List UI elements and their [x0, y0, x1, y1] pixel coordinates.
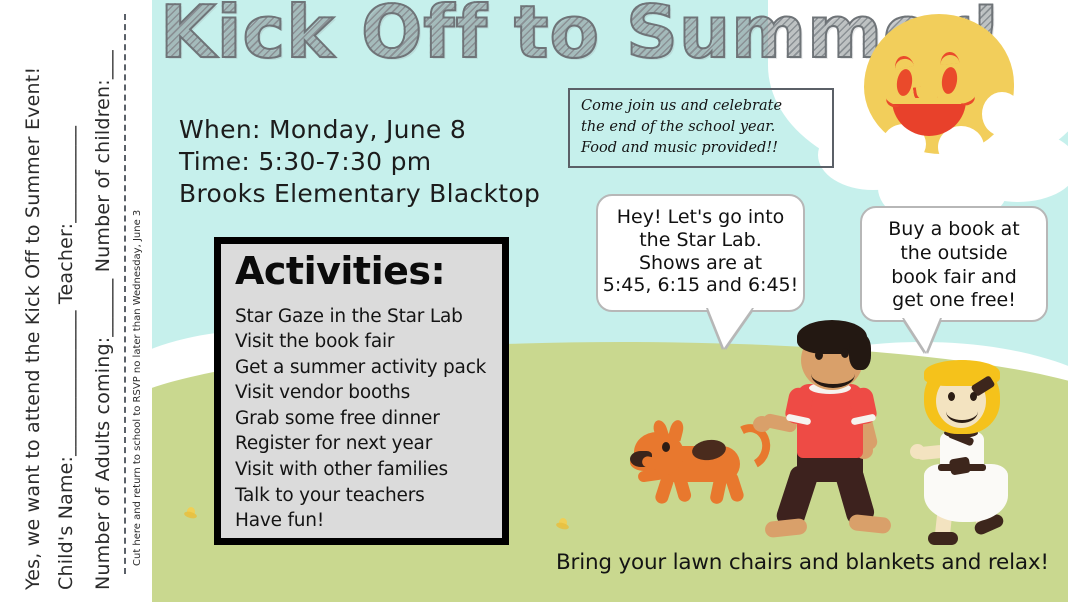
- sun-mouth-top: [892, 98, 966, 104]
- girl-sash-bow: [949, 456, 971, 475]
- boy-shoe: [764, 518, 807, 538]
- footer-text: Bring your lawn chairs and blankets and …: [556, 550, 1049, 575]
- list-item: Grab some free dinner: [235, 406, 502, 432]
- flower-icon: [184, 505, 198, 519]
- list-item: Have fun!: [235, 508, 502, 534]
- girl-shoe: [928, 532, 958, 545]
- event-when: When: Monday, June 8: [179, 114, 540, 146]
- list-item: Star Gaze in the Star Lab: [235, 304, 502, 330]
- list-item: Visit with other families: [235, 457, 502, 483]
- flyer-canvas: Yes, we want to attend the Kick Off to S…: [0, 0, 1068, 602]
- rsvp-stub: Yes, we want to attend the Kick Off to S…: [0, 0, 152, 602]
- event-place: Brooks Elementary Blacktop: [179, 178, 540, 210]
- activities-heading: Activities:: [235, 252, 502, 292]
- bubble-line-4: 5:45, 6:15 and 6:45!: [598, 274, 803, 297]
- rsvp-cut-instruction: Cut here and return to school to RSVP no…: [132, 210, 143, 566]
- list-item: Visit the book fair: [235, 329, 502, 355]
- bubble-line-3: book fair and: [862, 266, 1046, 290]
- invitation-line-1: Come join us and celebrate: [581, 96, 823, 117]
- event-details: When: Monday, June 8 Time: 5:30-7:30 pm …: [179, 114, 540, 210]
- bubble-line-3: Shows are at: [598, 252, 803, 275]
- dog-icon: [630, 418, 770, 510]
- sun-notch: [982, 92, 1022, 136]
- activities-list: Star Gaze in the Star Lab Visit the book…: [235, 304, 502, 534]
- sun-icon: [864, 14, 1034, 174]
- bubble-line-4: get one free!: [862, 289, 1046, 313]
- dog-leg: [724, 471, 746, 504]
- dog-eye: [662, 442, 670, 452]
- rsvp-headline: Yes, we want to attend the Kick Off to S…: [22, 67, 44, 590]
- bubble-line-1: Hey! Let's go into: [598, 206, 803, 229]
- girl-smile: [946, 400, 978, 423]
- poster-area: Kick Off to Summer! When: Monday, June 8…: [152, 0, 1068, 602]
- boy-eye: [815, 350, 823, 360]
- cut-line-divider: [124, 14, 126, 574]
- girl-character-icon: [912, 360, 1032, 546]
- speech-bubble-tail: [708, 308, 752, 348]
- boy-shoe: [848, 514, 891, 534]
- speech-bubble-tail: [904, 318, 940, 352]
- speech-bubble-star-lab: Hey! Let's go into the Star Lab. Shows a…: [596, 194, 805, 312]
- rsvp-child-teacher-fields[interactable]: Child's Name:_______________ Teacher:___…: [55, 126, 77, 590]
- speech-bubble-book-fair: Buy a book at the outside book fair and …: [860, 206, 1048, 322]
- list-item: Register for next year: [235, 431, 502, 457]
- flower-icon: [556, 516, 570, 530]
- rsvp-counts-fields[interactable]: Number of Adults coming:______ Number of…: [92, 50, 114, 590]
- activities-box: Activities: Star Gaze in the Star Lab Vi…: [214, 237, 509, 545]
- list-item: Visit vendor booths: [235, 380, 502, 406]
- boy-smile: [811, 360, 855, 388]
- boy-eye: [841, 348, 849, 358]
- girl-hand: [910, 444, 925, 459]
- invitation-box: Come join us and celebrate the end of th…: [568, 88, 834, 168]
- event-time: Time: 5:30-7:30 pm: [179, 146, 540, 178]
- invitation-line-2: the end of the school year.: [581, 117, 823, 138]
- boy-character-icon: [767, 316, 907, 544]
- invitation-line-3: Food and music provided!!: [581, 138, 823, 159]
- list-item: Talk to your teachers: [235, 483, 502, 509]
- bubble-line-2: the outside: [862, 242, 1046, 266]
- bubble-line-2: the Star Lab.: [598, 229, 803, 252]
- bubble-line-1: Buy a book at: [862, 218, 1046, 242]
- boy-hand: [753, 416, 771, 432]
- list-item: Get a summer activity pack: [235, 355, 502, 381]
